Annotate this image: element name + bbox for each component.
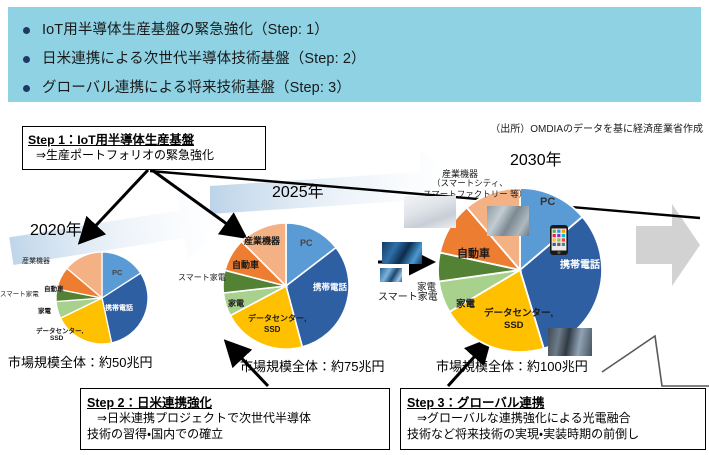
smartphone-photo xyxy=(549,224,569,256)
step3-body-line1: ⇒グローバルな連携強化による光電融合 xyxy=(407,411,700,427)
label-2030-datacenter-l2: SSD xyxy=(504,320,524,331)
label-2020-industrial: 産業機器 xyxy=(22,256,50,266)
step3-body-line2: 技術など将来技術の実現・実装時期の前倒し xyxy=(407,427,700,443)
label-2030-mobile: 携帯電話 xyxy=(560,256,600,271)
label-2025-industrial: 産業機器 xyxy=(244,234,280,247)
market-size-2030: 市場規模全体：約100兆円 xyxy=(436,356,588,375)
step1-body: ⇒生産ポートフォリオの緊急強化 xyxy=(28,148,260,164)
step3-body: ⇒グローバルな連携強化による光電融合 技術など将来技術の実現・実装時期の前倒し xyxy=(407,411,700,442)
label-2020-mobile: 携帯電話 xyxy=(105,303,133,313)
step1-callout-box: Step 1：IoT用半導体生産基盤 ⇒生産ポートフォリオの緊急強化 xyxy=(22,126,266,170)
label-2020-pc: PC xyxy=(112,268,122,277)
label-2020-datacenter-l2: SSD xyxy=(50,335,63,342)
step2-body: ⇒日米連携プロジェクトで次世代半導体 技術の習得・国内での確立 xyxy=(87,411,384,442)
market-size-2025: 市場規模全体：約75兆円 xyxy=(240,356,384,375)
smart-home-photo xyxy=(380,268,402,282)
label-2030-pc: PC xyxy=(540,196,555,208)
step2-body-line2: 技術の習得・国内での確立 xyxy=(87,427,384,443)
slide-canvas: IoT用半導体生産基盤の緊急強化（Step: 1） 日米連携による次世代半導体技… xyxy=(0,0,709,455)
market-size-2020: 市場規模全体：約50兆円 xyxy=(8,352,152,371)
car-photo xyxy=(404,196,456,228)
chart-2020-year-title: 2020年 xyxy=(30,216,82,240)
chart-2025-year-title: 2025年 xyxy=(272,178,324,202)
label-2020-smart-appliance: スマート家電 xyxy=(0,288,39,298)
step2-title: Step 2：日米連携強化 xyxy=(87,392,384,411)
label-2020-appliance: 家電 xyxy=(38,305,51,315)
label-2025-appliance: 家電 xyxy=(228,298,244,309)
server-rack-photo xyxy=(548,328,592,356)
label-2030-automotive: 自動車 xyxy=(457,245,490,261)
step2-callout-box: Step 2：日米連携強化 ⇒日米連携プロジェクトで次世代半導体 技術の習得・国… xyxy=(80,388,390,450)
factory-photo xyxy=(487,206,529,236)
label-2025-automotive: 自動車 xyxy=(232,258,259,271)
label-2025-mobile: 携帯電話 xyxy=(313,281,347,293)
label-2030-appliance: 家電 xyxy=(456,296,475,310)
label-2020-datacenter-l1: データセンター, xyxy=(36,325,83,335)
chart-2030-year-title: 2030年 xyxy=(510,146,562,170)
car-dashboard-photo xyxy=(382,242,422,264)
label-smart-home-middle: スマート家電 xyxy=(378,288,438,303)
label-2025-smart-appliance: スマート家電 xyxy=(178,272,226,283)
step3-callout-box: Step 3：グローバル連携 ⇒グローバルな連携強化による光電融合 技術など将来… xyxy=(400,388,706,450)
label-2025-datacenter-l1: データセンター, xyxy=(248,313,306,324)
label-2025-datacenter-l2: SSD xyxy=(264,325,280,334)
step2-body-line1: ⇒日米連携プロジェクトで次世代半導体 xyxy=(87,411,384,427)
label-2025-pc: PC xyxy=(300,238,313,248)
step1-title: Step 1：IoT用半導体生産基盤 xyxy=(28,130,260,148)
step3-title: Step 3：グローバル連携 xyxy=(407,392,700,411)
label-2020-automotive: 自動車 xyxy=(44,283,64,293)
label-2030-datacenter-l1: データセンター, xyxy=(484,305,553,319)
